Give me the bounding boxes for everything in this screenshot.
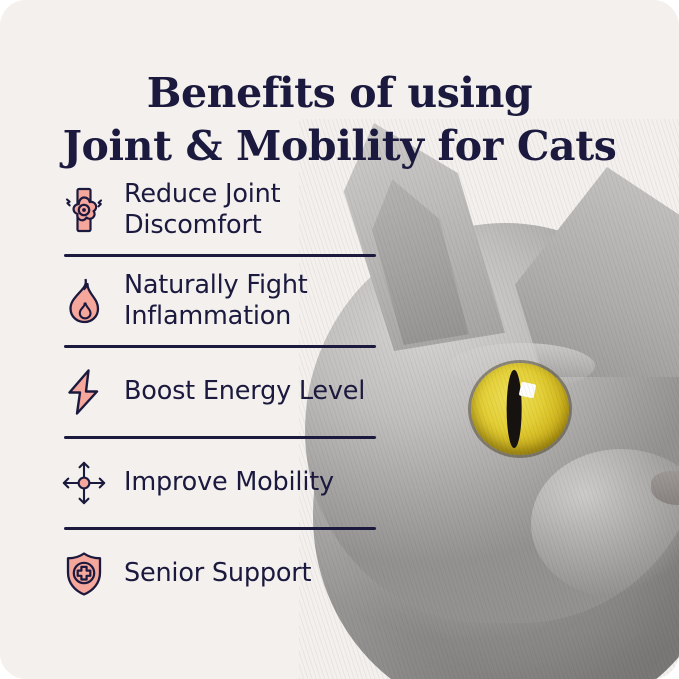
list-item: Improve Mobility [60, 441, 390, 525]
list-item-label: Naturally Fight Inflammation [124, 270, 390, 332]
shield-plus-icon [60, 548, 108, 600]
list-item-label: Boost Energy Level [124, 376, 365, 407]
list-item-label: Senior Support [124, 558, 311, 589]
list-item: Reduce Joint Discomfort [60, 168, 390, 252]
cat-eye-glint [519, 382, 537, 399]
cat-brow [449, 343, 595, 389]
cat-eye [471, 363, 569, 455]
page-title-line-2: Joint & Mobility for Cats [0, 120, 679, 172]
page-title-line-1: Benefits of using [0, 67, 679, 119]
benefits-list: Reduce Joint Discomfort Naturally Fight … [60, 168, 390, 616]
list-item-label: Improve Mobility [124, 467, 334, 498]
four-way-arrows-icon [60, 457, 108, 509]
list-item: Naturally Fight Inflammation [60, 259, 390, 343]
cat-ear-right [515, 167, 679, 377]
cat-pupil [507, 370, 522, 447]
list-divider [64, 345, 376, 348]
list-item-label: Reduce Joint Discomfort [124, 179, 390, 241]
cat-nose [651, 471, 679, 505]
benefits-infographic-card: Benefits of using Joint & Mobility for C… [0, 0, 679, 679]
list-divider [64, 254, 376, 257]
lightning-bolt-icon [60, 366, 108, 418]
list-divider [64, 436, 376, 439]
list-item: Boost Energy Level [60, 350, 390, 434]
cat-muzzle [531, 449, 679, 599]
flame-icon [60, 275, 108, 327]
page-title: Benefits of using Joint & Mobility for C… [0, 67, 679, 172]
joint-pain-icon [60, 184, 108, 236]
list-divider [64, 527, 376, 530]
list-item: Senior Support [60, 532, 390, 616]
